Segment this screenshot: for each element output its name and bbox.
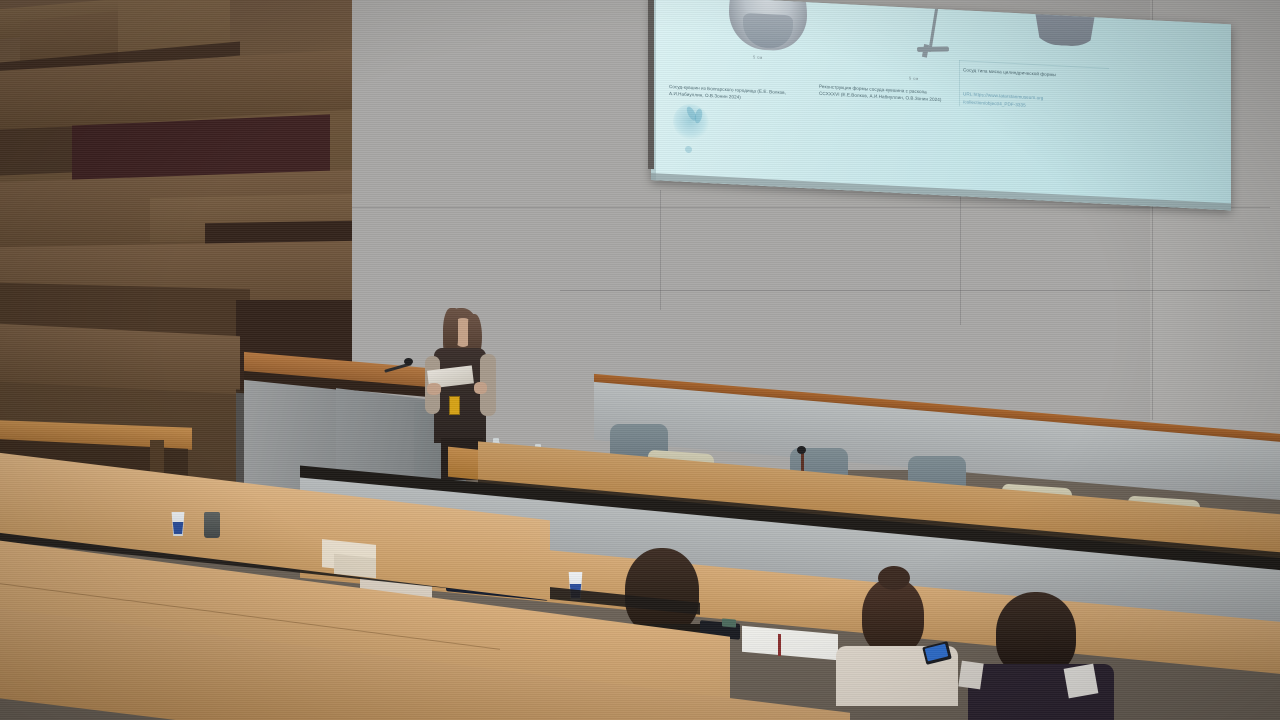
presenter-left-hand (427, 383, 441, 395)
attendee-in-suit-shirt-collar (958, 661, 983, 690)
conference-badge (449, 396, 460, 415)
lectern-microphone-head (404, 358, 413, 365)
wall-seam (560, 290, 1270, 291)
presenter-hair-front (443, 308, 458, 352)
paper-coffee-cup-band (172, 522, 184, 534)
wood-panel-shadow (0, 126, 72, 175)
presenter-vest (434, 348, 486, 443)
wall-seam (660, 190, 661, 310)
wood-panel (0, 324, 240, 395)
scale-note-left: 5 см (753, 54, 763, 60)
paper-bookmark (778, 634, 781, 656)
open-papers (742, 626, 838, 660)
attendee-in-suit-shirt-collar (1064, 664, 1099, 699)
attendee-with-phone-bun (878, 566, 910, 590)
presenter-right-hand (474, 382, 487, 394)
travel-tumbler (204, 512, 220, 538)
smartphone-screen[interactable] (722, 618, 736, 627)
scale-note-middle: 5 см (909, 76, 919, 82)
desk-microphone-head (797, 446, 806, 454)
scattered-papers (334, 554, 376, 578)
lecture-hall-photograph: 5 см 5 см Сосуд-кувшин из Болгарского го… (0, 0, 1280, 720)
slide-divider (959, 60, 960, 106)
wall-seam (340, 207, 1270, 208)
wall-seam (960, 175, 961, 325)
projection-screen: 5 см 5 см Сосуд-кувшин из Болгарского го… (651, 0, 1231, 210)
screen-frame-shadow (648, 0, 654, 169)
attendee-centre-head (625, 548, 699, 634)
institute-emblem-dot (685, 146, 692, 153)
